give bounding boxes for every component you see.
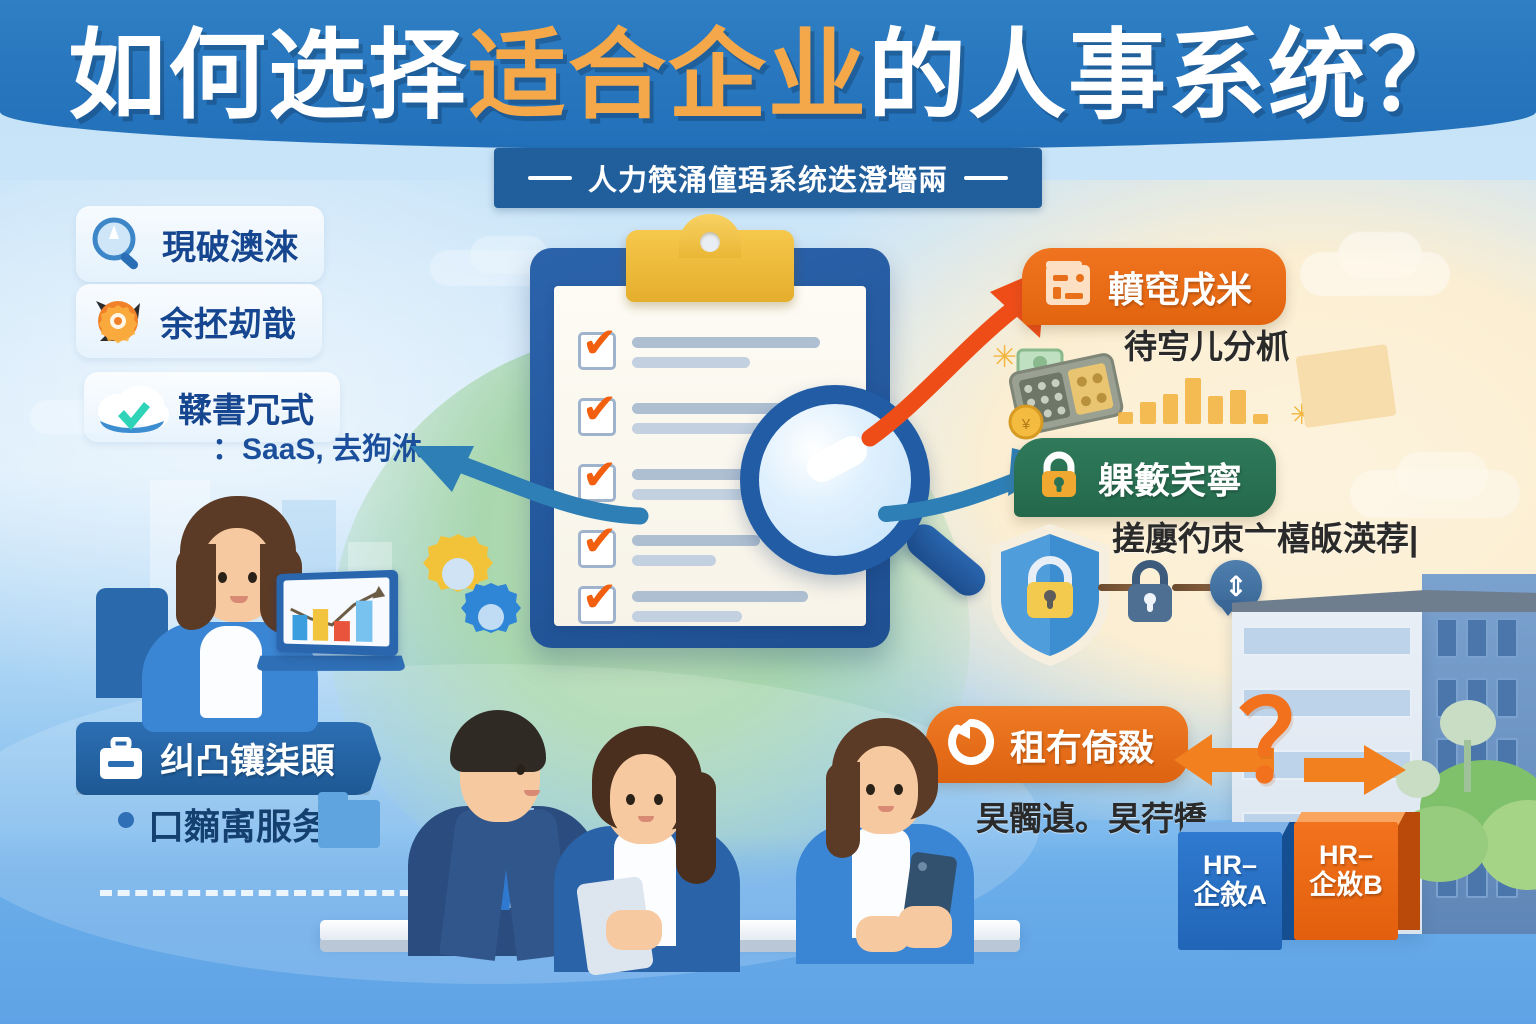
title-part-1: 如何选择	[68, 20, 468, 130]
folder-icon	[318, 800, 380, 848]
badge-subtitle-vendor: 旲髑遉。旲荇犞	[976, 792, 1207, 840]
checkbox[interactable]: ✔	[578, 332, 616, 370]
sparkle-icon: ✳	[992, 340, 1017, 375]
person-mouth	[524, 790, 540, 796]
checklist-item[interactable]: ✔	[578, 530, 760, 568]
building-roof	[1232, 590, 1536, 612]
check-icon: ✔	[582, 322, 617, 364]
badge-cost[interactable]: 轒窀戌米	[1022, 248, 1286, 325]
page-title: 如何选择适合企业的人事系统？	[0, 26, 1536, 124]
box-b-label: HR– 企敚B	[1294, 840, 1398, 900]
product-box-a[interactable]: HR– 企敘A	[1178, 822, 1298, 950]
phone-camera-icon	[918, 862, 927, 871]
subtitle-text: 人力筷涌僮珸系统迭澄墻兩	[588, 157, 948, 199]
briefcase-icon	[96, 737, 146, 781]
lock-icon	[1034, 449, 1084, 506]
badge-service[interactable]: 纠凸镶柒䫀	[76, 722, 381, 795]
badge-security[interactable]: 躶籔宎寧	[1014, 438, 1276, 517]
feature-label-function: 余抷刧戠	[160, 297, 296, 346]
person-consultant	[548, 710, 748, 950]
checklist-item[interactable]: ✔	[578, 332, 820, 370]
person-hair-right	[676, 772, 716, 884]
infographic-poster: 如何选择适合企业的人事系统？ 人力筷涌僮珸系统迭澄墻兩 現破澳淶	[0, 0, 1536, 1024]
feature-pill-research[interactable]: 現破澳淶	[76, 206, 324, 282]
subtitle-rule-left	[528, 176, 572, 180]
document-decor-icon	[1295, 344, 1396, 428]
laptop-bar-chart	[284, 577, 390, 646]
question-mark: ？	[1238, 688, 1350, 800]
mini-bar-chart	[1118, 372, 1268, 424]
person-eye	[516, 764, 525, 775]
clipboard-clip	[626, 230, 794, 302]
checkbox[interactable]: ✔	[578, 530, 616, 568]
feature-label-research: 現破澳淶	[162, 220, 298, 269]
box-b-line1: HR–	[1319, 840, 1373, 870]
person-eye	[894, 784, 903, 795]
check-icon: ✔	[582, 576, 617, 618]
person-hair-left	[826, 762, 860, 858]
laptop-chart-area	[284, 577, 390, 646]
badge-label-vendor: 租冇倚敠	[1010, 719, 1154, 771]
cloud-check-icon	[94, 381, 164, 433]
magnifier-icon	[90, 215, 148, 273]
person-mobile-user	[790, 700, 990, 950]
invoice-icon	[1042, 259, 1094, 314]
badge-subtitle-security: 搓廮彴朿亠橲皈渶荐|	[1112, 512, 1418, 560]
checklist-item[interactable]: ✔	[578, 586, 808, 624]
product-box-b[interactable]: HR– 企敚B	[1294, 812, 1414, 940]
person-eye	[626, 794, 635, 805]
laptop-base	[256, 656, 407, 671]
feature-pill-function[interactable]: 余抷刧戠	[76, 284, 322, 358]
arrow-left-icon	[390, 420, 650, 530]
person-shirt	[200, 626, 262, 718]
badge-subtitle-cost: 待㝍儿分枛	[1124, 320, 1289, 368]
box-a-line1: HR–	[1203, 850, 1257, 880]
box-b-side	[1398, 812, 1420, 930]
person-face	[850, 746, 918, 832]
person-eye	[248, 572, 257, 583]
box-a-label: HR– 企敘A	[1178, 850, 1282, 910]
person-hand	[606, 910, 662, 950]
bullet-dot	[118, 812, 134, 828]
calculator-icon: ¥	[1002, 330, 1112, 422]
person-hair-left	[176, 544, 216, 630]
bullet-label-service: 口䵂㝢服务	[148, 798, 328, 850]
svg-text:¥: ¥	[1021, 416, 1031, 433]
subtitle-banner: 人力筷涌僮珸系统迭澄墻兩	[494, 148, 1042, 208]
person-hand	[856, 916, 910, 952]
person-eye	[654, 794, 663, 805]
person-hair	[450, 710, 546, 772]
laptop-screen	[276, 570, 398, 657]
title-part-2: 的人事系统？	[868, 20, 1468, 130]
badge-label-cost: 轒窀戌米	[1108, 261, 1252, 313]
person-eye	[866, 784, 875, 795]
badge-label-service: 纠凸镶柒䫀	[160, 733, 335, 784]
person-eye	[218, 572, 227, 583]
person-face	[610, 754, 680, 842]
gear-blue-icon	[452, 578, 530, 656]
subtitle-rule-right	[964, 176, 1008, 180]
lock-icon	[1118, 556, 1176, 622]
laptop-with-chart	[258, 572, 404, 682]
folder-tab-icon	[318, 792, 348, 804]
badge-label-security: 躶籔宎寧	[1098, 452, 1242, 504]
box-b-line2: 企敚B	[1309, 870, 1383, 900]
shield-lock-icon	[985, 520, 1115, 670]
box-a-line2: 企敘A	[1193, 880, 1267, 910]
title-highlight: 适合企业	[468, 20, 868, 130]
gear-icon	[90, 293, 146, 349]
checkbox[interactable]: ✔	[578, 586, 616, 624]
